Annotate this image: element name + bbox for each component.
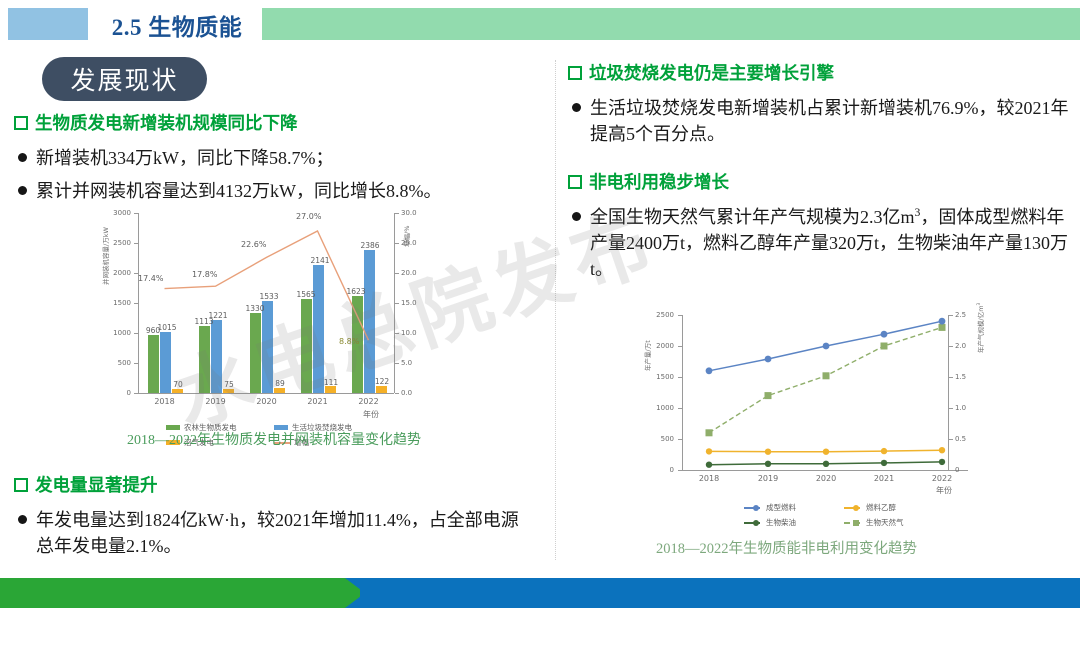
bullet-dot-icon (18, 515, 27, 524)
bullet-item: 生活垃圾焚烧发电新增装机占累计新增装机76.9%，较2021年提高5个百分点。 (572, 95, 1072, 147)
footer-green-arrow (0, 578, 360, 608)
bullet-dot-icon (18, 186, 27, 195)
chart2-xtick: 2021 (864, 474, 904, 483)
chart1-caption: 2018—2022年生物质发电并网装机容量变化趋势 (127, 429, 421, 449)
section-heading-label: 生物质发电新增装机规模同比下降 (35, 110, 298, 135)
bullet-dot-icon (572, 212, 581, 221)
bullet-item: 新增装机334万kW，同比下降58.7%； (18, 145, 538, 171)
header-blue-block (8, 8, 88, 40)
chart1-growth-label: 17.4% (138, 274, 163, 283)
chart2-legend-natural-gas: 生物天然气 (844, 517, 904, 528)
chart2-xtick: 2018 (689, 474, 729, 483)
bullet-text-inner: 全国生物天然气累计年产气规模为2.3亿m3，固体成型燃料年产量2400万t，燃料… (590, 207, 1068, 279)
section-heading-generation: 发电量显著提升 (14, 472, 534, 497)
bullet-text: 累计并网装机容量达到4132万kW，同比增长8.8%。 (36, 178, 538, 204)
chart2-markers-natural-gas (706, 324, 946, 436)
chart1-growth-label: 22.6% (241, 240, 266, 249)
chart-biomass-nonpower: 年产量/万t 年产气规模/亿m3 年份 0 500 1000 1500 2000… (644, 305, 1064, 535)
chart1-xtick: 2022 (348, 397, 389, 406)
chart1-growth-line (108, 207, 428, 407)
bullet-text: 年发电量达到1824亿kW·h，较2021年增加11.4%，占全部电源总年发电量… (36, 507, 533, 559)
square-bullet-icon (14, 478, 28, 492)
legend-marker-icon (753, 505, 759, 511)
header-green-band (262, 8, 1080, 40)
square-bullet-icon (568, 66, 582, 80)
stage-badge: 发展现状 (42, 57, 207, 101)
chart2-markers-pellet (706, 318, 946, 374)
slide-footer (0, 578, 1080, 608)
chart-biomass-capacity: 并网装机容量/万kW 增幅/% 年份 0 500 1000 1500 2000 … (108, 207, 528, 437)
chart2-legend-pellet: 成型燃料 (744, 502, 796, 513)
bullet-text: 新增装机334万kW，同比下降58.7%； (36, 145, 538, 171)
chart2-markers-biodiesel (706, 459, 945, 468)
chart2-xtick: 2019 (748, 474, 788, 483)
bullet-dot-icon (572, 103, 581, 112)
bullet-text: 全国生物天然气累计年产气规模为2.3亿m3，固体成型燃料年产量2400万t，燃料… (590, 204, 1072, 282)
chart1-growth-label: 17.8% (192, 270, 217, 279)
chart1-x-axis-title: 年份 (363, 409, 379, 420)
chart2-series-lines (644, 305, 984, 485)
legend-label: 燃料乙醇 (866, 502, 896, 513)
chart1-xtick: 2021 (297, 397, 338, 406)
chart1-xtick: 2019 (195, 397, 236, 406)
chart2-legend-ethanol: 燃料乙醇 (844, 502, 896, 513)
section-heading-nonpower: 非电利用稳步增长 (568, 169, 1068, 194)
chart1-growth-label: 8.8% (339, 337, 359, 346)
section-heading-label: 非电利用稳步增长 (589, 169, 729, 194)
chart2-legend-biodiesel: 生物柴油 (744, 517, 796, 528)
bullet-item: 年发电量达到1824亿kW·h，较2021年增加11.4%，占全部电源总年发电量… (18, 507, 533, 559)
section-heading-capacity: 生物质发电新增装机规模同比下降 (14, 110, 534, 135)
legend-marker-icon (753, 520, 759, 526)
bullet-text: 生活垃圾焚烧发电新增装机占累计新增装机76.9%，较2021年提高5个百分点。 (590, 95, 1072, 147)
chart2-xtick: 2020 (806, 474, 846, 483)
section-heading-label: 发电量显著提升 (35, 472, 158, 497)
legend-label: 生物柴油 (766, 517, 796, 528)
bullet-item: 全国生物天然气累计年产气规模为2.3亿m3，固体成型燃料年产量2400万t，燃料… (572, 204, 1072, 282)
legend-marker-icon (853, 520, 859, 526)
chart1-xtick: 2018 (144, 397, 185, 406)
section-heading-label: 垃圾焚烧发电仍是主要增长引擎 (589, 60, 834, 85)
chart2-caption: 2018—2022年生物质能非电利用变化趋势 (656, 537, 917, 558)
page-title: 2.5 生物质能 (92, 7, 262, 42)
bullet-dot-icon (18, 153, 27, 162)
square-bullet-icon (568, 175, 582, 189)
bullet-item: 累计并网装机容量达到4132万kW，同比增长8.8%。 (18, 178, 538, 204)
chart2-xtick: 2022 (922, 474, 962, 483)
legend-label: 生物天然气 (866, 517, 904, 528)
right-column: 垃圾焚烧发电仍是主要增长引擎 生活垃圾焚烧发电新增装机占累计新增装机76.9%，… (556, 47, 1080, 567)
chart2-x-axis-title: 年份 (936, 485, 952, 496)
legend-label: 成型燃料 (766, 502, 796, 513)
chart1-xtick: 2020 (246, 397, 287, 406)
left-column: 发展现状 生物质发电新增装机规模同比下降 新增装机334万kW，同比下降58.7… (0, 47, 556, 567)
square-bullet-icon (14, 116, 28, 130)
legend-marker-icon (853, 505, 859, 511)
section-heading-waste-engine: 垃圾焚烧发电仍是主要增长引擎 (568, 60, 1068, 85)
slide-header: 2.5 生物质能 (0, 0, 1080, 47)
chart1-growth-label: 27.0% (296, 212, 321, 221)
